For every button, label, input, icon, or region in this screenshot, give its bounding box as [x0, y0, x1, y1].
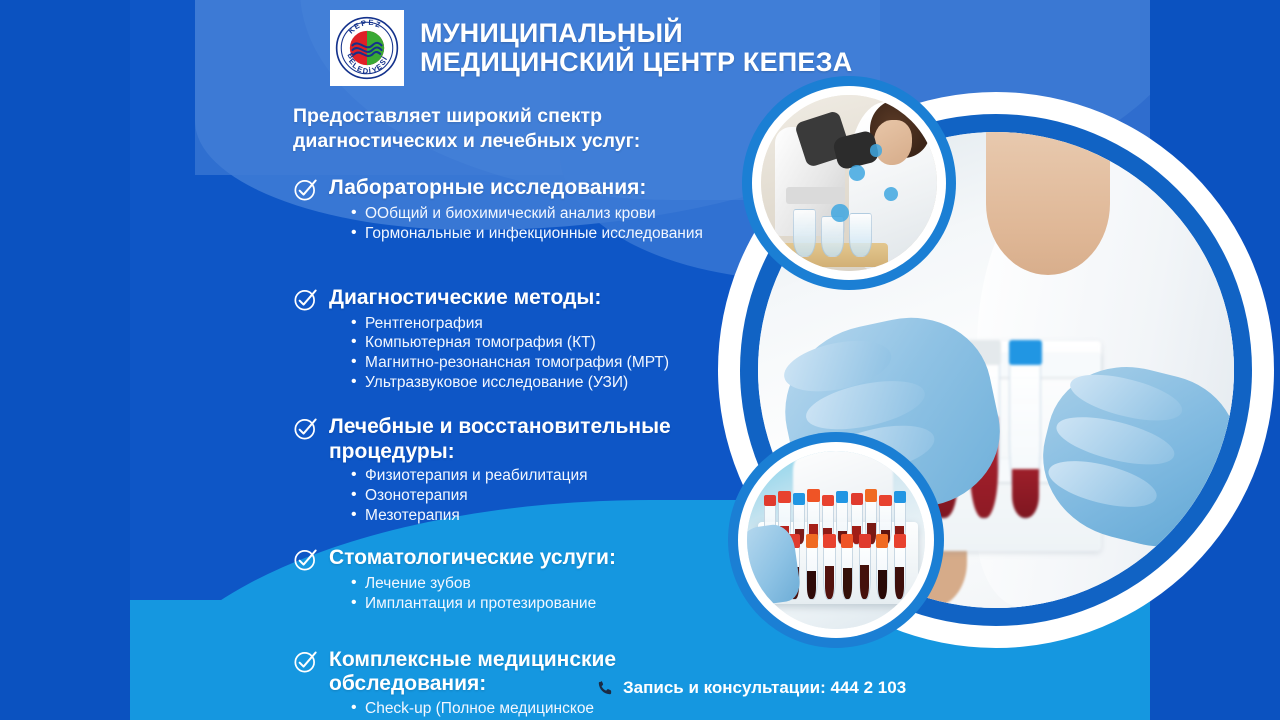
microscope-photo	[761, 95, 937, 271]
check-circle-icon	[293, 177, 318, 202]
check-circle-icon	[293, 416, 318, 441]
section-bullets: Рентгенография Компьютерная томография (…	[293, 314, 763, 393]
list-item: Магнитно-резонансная томография (МРТ)	[351, 353, 763, 373]
phone-label: Запись и консультации: 444 2 103	[623, 678, 906, 698]
section-bullets: Check-up (Полное медицинское обследовани…	[293, 699, 621, 720]
blood-samples-photo	[747, 451, 925, 629]
contact-phone[interactable]: Запись и консультации: 444 2 103	[596, 678, 906, 698]
poster-header: K E P E Z B E L E D İ Y E S İ	[330, 10, 852, 86]
list-item: Check-up (Полное медицинское обследовани…	[351, 699, 621, 720]
service-section-laboratory: Лабораторные исследования: ООбщий и биох…	[293, 176, 763, 244]
list-item: Лечение зубов	[351, 574, 763, 594]
svg-text:E: E	[368, 18, 373, 27]
list-item: ООбщий и биохимический анализ крови	[351, 204, 763, 224]
title-line-1: МУНИЦИПАЛЬНЫЙ	[420, 19, 852, 48]
phone-icon	[596, 679, 614, 697]
service-section-dental: Стоматологические услуги: Лечение зубов …	[293, 546, 763, 614]
check-circle-icon	[293, 547, 318, 572]
organization-title: МУНИЦИПАЛЬНЫЙ МЕДИЦИНСКИЙ ЦЕНТР КЕПЕЗА	[420, 19, 852, 77]
list-item: Рентгенография	[351, 314, 763, 334]
list-item: Компьютерная томография (КТ)	[351, 333, 763, 353]
check-circle-icon	[293, 287, 318, 312]
section-bullets: ООбщий и биохимический анализ крови Горм…	[293, 204, 763, 244]
kepez-belediyesi-logo: K E P E Z B E L E D İ Y E S İ	[330, 10, 404, 86]
lead-paragraph: Предоставляет широкий спектр диагностиче…	[293, 104, 763, 154]
title-line-2: МЕДИЦИНСКИЙ ЦЕНТР КЕПЕЗА	[420, 48, 852, 77]
section-title: Стоматологические услуги:	[329, 546, 616, 571]
list-item: Озонотерапия	[351, 486, 763, 506]
section-bullets: Физиотерапия и реабилитация Озонотерапия…	[293, 466, 763, 525]
list-item: Имплантация и протезирование	[351, 594, 763, 614]
check-circle-icon	[293, 649, 318, 674]
services-content: Предоставляет широкий спектр диагностиче…	[293, 104, 763, 720]
service-section-treatment: Лечебные и восстановительные процедуры: …	[293, 415, 763, 526]
section-title: Диагностические методы:	[329, 286, 601, 311]
service-section-diagnostics: Диагностические методы: Рентгенография К…	[293, 286, 763, 393]
section-title: Лечебные и восстановительные процедуры:	[329, 415, 763, 465]
list-item: Физиотерапия и реабилитация	[351, 466, 763, 486]
section-bullets: Лечение зубов Имплантация и протезирован…	[293, 574, 763, 614]
list-item: Мезотерапия	[351, 506, 763, 526]
list-item: Ультразвуковое исследование (УЗИ)	[351, 373, 763, 393]
list-item: Гормональные и инфекционные исследования	[351, 224, 763, 244]
poster-root: K E P E Z B E L E D İ Y E S İ	[0, 0, 1280, 720]
section-title: Лабораторные исследования:	[329, 176, 646, 201]
